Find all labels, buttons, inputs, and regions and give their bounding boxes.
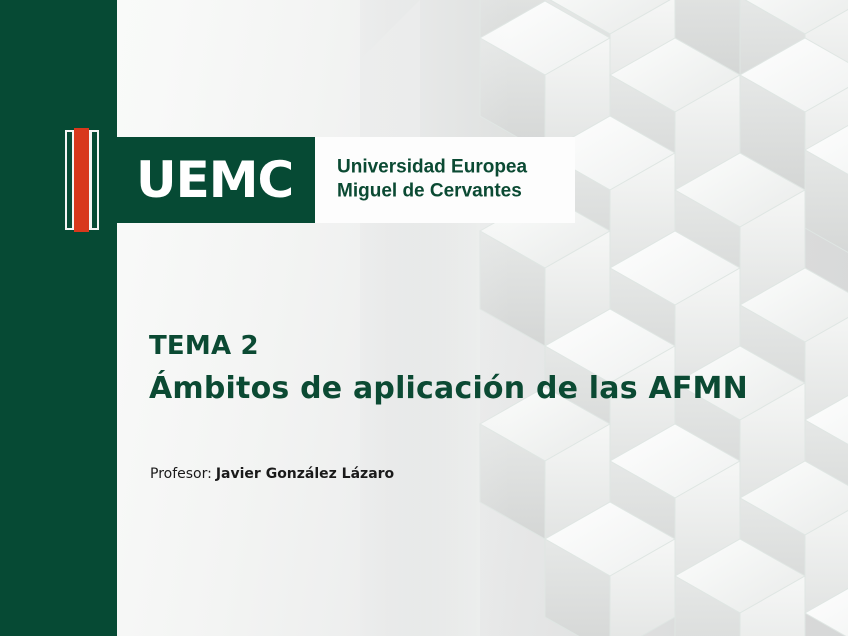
red-vertical-bar-icon bbox=[62, 128, 102, 232]
logo-wordmark: UEMC bbox=[136, 155, 293, 205]
page-title-subject: Ámbitos de aplicación de las AFMN bbox=[149, 371, 749, 407]
left-green-sidebar bbox=[0, 0, 117, 636]
logo-green-block: UEMC bbox=[81, 137, 315, 223]
page-title-topic: TEMA 2 bbox=[149, 330, 749, 363]
presentation-slide: UEMC Universidad Europea Miguel de Cerva… bbox=[0, 0, 848, 636]
university-name-line2: Miguel de Cervantes bbox=[337, 180, 527, 204]
professor-byline: Profesor:Javier González Lázaro bbox=[150, 466, 394, 483]
university-name: Universidad Europea Miguel de Cervantes bbox=[337, 156, 527, 205]
isometric-cubes-graphic bbox=[360, 0, 848, 636]
uemc-logo: UEMC Universidad Europea Miguel de Cerva… bbox=[62, 137, 575, 223]
university-name-line1: Universidad Europea bbox=[337, 156, 527, 180]
logo-bar-green-inner-right bbox=[92, 132, 97, 228]
logo-bar-red bbox=[74, 128, 89, 232]
professor-name: Javier González Lázaro bbox=[216, 466, 394, 482]
logo-bar-green-inner-left bbox=[67, 132, 72, 228]
slide-title-block: TEMA 2 Ámbitos de aplicación de las AFMN bbox=[149, 330, 749, 407]
professor-label: Profesor: bbox=[150, 466, 212, 482]
